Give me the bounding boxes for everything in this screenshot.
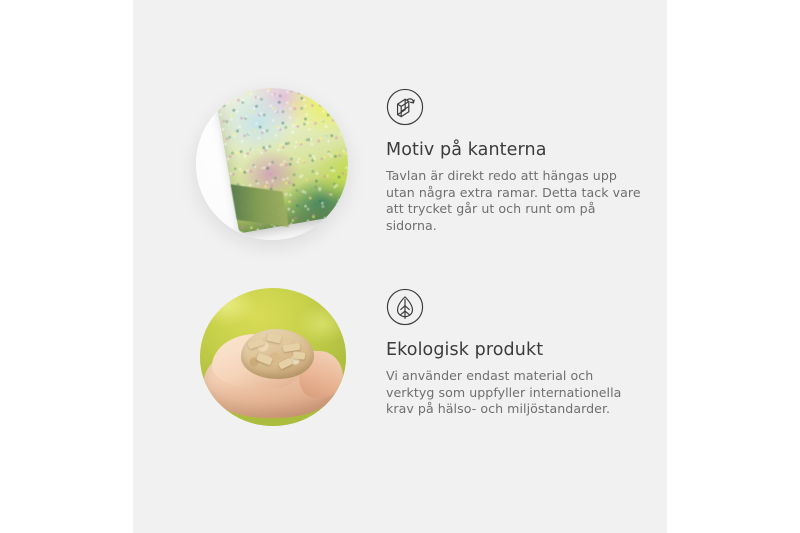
feature-image-canvas-print-corner (196, 88, 348, 240)
product-feature-panel: Motiv på kanterna Tavlan är direkt redo … (0, 0, 800, 533)
feature-title: Motiv på kanterna (386, 140, 656, 161)
feature-description: Tavlan är direkt redo att hängas upp uta… (386, 168, 642, 234)
content-panel: Motiv på kanterna Tavlan är direkt redo … (133, 0, 667, 533)
feature-image-hands-wood-chips (200, 288, 346, 426)
feature-copy: Motiv på kanterna Tavlan är direkt redo … (386, 88, 656, 234)
canvas-corner-artwork (215, 88, 348, 233)
feature-description: Vi använder endast material och verktyg … (386, 368, 642, 418)
feature-copy: Ekologisk produkt Vi använder endast mat… (386, 288, 656, 418)
wood-chips-pile (241, 329, 314, 379)
leaf-icon (386, 288, 424, 326)
canvas-edge-wrap-icon (386, 88, 424, 126)
feature-title: Ekologisk produkt (386, 340, 656, 361)
